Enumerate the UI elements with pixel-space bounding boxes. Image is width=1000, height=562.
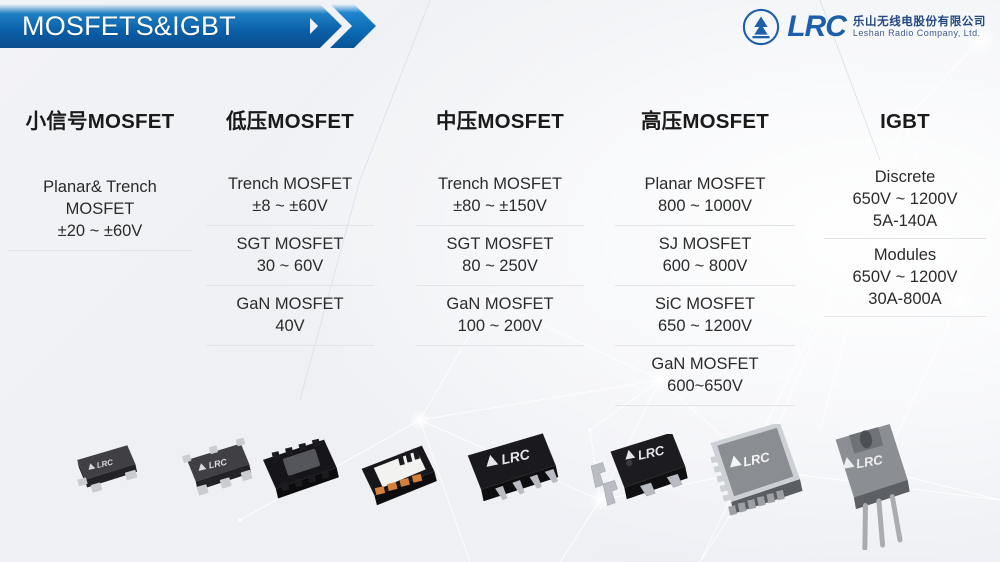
dfn8-package-image	[252, 434, 347, 504]
spec-range-line2: 30A-800A	[824, 288, 986, 310]
column-high-voltage-mosfet: 高压MOSFET Planar MOSFET 800 ~ 1000V SJ MO…	[615, 112, 795, 406]
column-igbt: IGBT Discrete 650V ~ 1200V 5A-140A Modul…	[824, 112, 986, 317]
column-low-voltage-mosfet: 低压MOSFET Trench MOSFET ±8 ~ ±60V SGT MOS…	[206, 112, 374, 346]
spec-name: SGT MOSFET	[206, 233, 374, 255]
spec-range: 40V	[206, 315, 374, 337]
column-heading: 高压MOSFET	[615, 112, 795, 133]
dfn8-bottom-package-image	[352, 440, 447, 508]
slide-canvas: MOSFETS&IGBT LRC 乐山无线电股份有限公司 Leshan Radi…	[0, 0, 1000, 562]
spec-name: Planar MOSFET	[615, 173, 795, 195]
spec-name: SiC MOSFET	[615, 293, 795, 315]
spec-block: Trench MOSFET ±8 ~ ±60V	[206, 166, 374, 226]
spec-range: 80 ~ 250V	[416, 255, 584, 277]
spec-range: 100 ~ 200V	[416, 315, 584, 337]
spec-block: SGT MOSFET 80 ~ 250V	[416, 226, 584, 286]
spec-range: 30 ~ 60V	[206, 255, 374, 277]
spec-range: 650V ~ 1200V	[824, 188, 986, 210]
spec-range: ±8 ~ ±60V	[206, 195, 374, 217]
column-small-signal-mosfet: 小信号MOSFET Planar& Trench MOSFET ±20 ~ ±6…	[8, 112, 192, 251]
spec-name: Trench MOSFET	[206, 173, 374, 195]
spec-block: Modules 650V ~ 1200V 30A-800A	[824, 239, 986, 317]
sot23-package-image: LRC	[62, 440, 152, 500]
company-logo: LRC 乐山无线电股份有限公司 Leshan Radio Company, Lt…	[742, 8, 986, 46]
spec-name-line2: MOSFET	[8, 198, 192, 220]
spec-name: GaN MOSFET	[206, 293, 374, 315]
to220f-package-image: LRC	[812, 420, 932, 550]
spec-name: Modules	[824, 244, 986, 266]
spec-range: 600~650V	[615, 375, 795, 397]
spec-block: Planar MOSFET 800 ~ 1000V	[615, 166, 795, 226]
spec-range: 650V ~ 1200V	[824, 266, 986, 288]
spec-range: 600 ~ 800V	[615, 255, 795, 277]
lrc-circle-emblem-icon	[742, 8, 780, 46]
spec-block: SJ MOSFET 600 ~ 800V	[615, 226, 795, 286]
spec-range: ±20 ~ ±60V	[8, 220, 192, 242]
banner-title: MOSFETS&IGBT	[0, 11, 236, 42]
package-images-row: LRC LRC	[0, 420, 1000, 562]
power-module-package-image: LRC	[702, 424, 812, 524]
spec-block: GaN MOSFET 600~650V	[615, 346, 795, 406]
spec-name: SGT MOSFET	[416, 233, 584, 255]
spec-range: 650 ~ 1200V	[615, 315, 795, 337]
spec-range: ±80 ~ ±150V	[416, 195, 584, 217]
spec-block: Planar& Trench MOSFET ±20 ~ ±60V	[8, 169, 192, 251]
spec-name: SJ MOSFET	[615, 233, 795, 255]
spec-name: Planar& Trench	[8, 176, 192, 198]
spec-block: SiC MOSFET 650 ~ 1200V	[615, 286, 795, 346]
spec-range: 800 ~ 1000V	[615, 195, 795, 217]
spec-range-line2: 5A-140A	[824, 210, 986, 232]
column-heading: 小信号MOSFET	[8, 112, 192, 133]
spec-block: SGT MOSFET 30 ~ 60V	[206, 226, 374, 286]
column-medium-voltage-mosfet: 中压MOSFET Trench MOSFET ±80 ~ ±150V SGT M…	[416, 112, 584, 346]
column-heading: 低压MOSFET	[206, 112, 374, 133]
so8-package-image: LRC	[458, 432, 573, 510]
column-heading: IGBT	[824, 112, 986, 133]
sot23-6-package-image: LRC	[170, 438, 265, 504]
spec-block: GaN MOSFET 40V	[206, 286, 374, 346]
spec-name: GaN MOSFET	[416, 293, 584, 315]
logo-company-name-en: Leshan Radio Company, Ltd.	[853, 29, 986, 38]
logo-wordmark: LRC	[787, 12, 846, 42]
spec-block: Discrete 650V ~ 1200V 5A-140A	[824, 161, 986, 239]
column-heading: 中压MOSFET	[416, 112, 584, 133]
dpak-to252-package-image: LRC	[580, 434, 700, 516]
spec-name: Trench MOSFET	[416, 173, 584, 195]
section-banner: MOSFETS&IGBT	[0, 4, 310, 48]
spec-block: Trench MOSFET ±80 ~ ±150V	[416, 166, 584, 226]
logo-company-name-cn: 乐山无线电股份有限公司	[853, 16, 986, 28]
spec-block: GaN MOSFET 100 ~ 200V	[416, 286, 584, 346]
spec-name: GaN MOSFET	[615, 353, 795, 375]
spec-name: Discrete	[824, 166, 986, 188]
